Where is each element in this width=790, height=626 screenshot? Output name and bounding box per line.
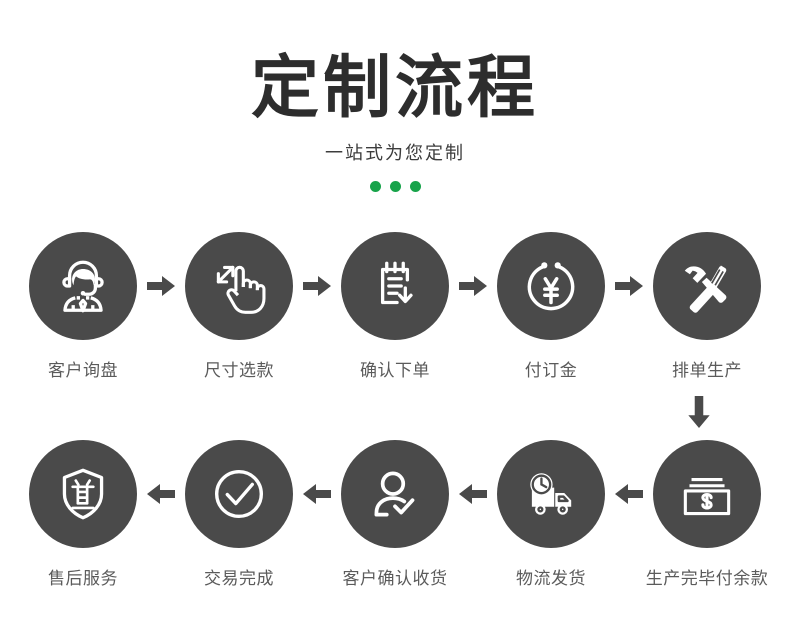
step-label: 物流发货 (516, 564, 586, 589)
process-step-confirm-order[interactable]: 确认下单 (340, 232, 450, 381)
circle-check-icon (205, 460, 273, 528)
flow-arrow-left (138, 440, 184, 548)
page-title: 定制流程 (0, 52, 790, 125)
process-step-pay-balance[interactable]: 生产完毕付余款 (652, 440, 762, 589)
process-step-customer-inquiry[interactable]: 客户询盘 (28, 232, 138, 381)
step-icon-bubble (185, 232, 293, 340)
headset-agent-icon (50, 253, 116, 319)
truck-clock-icon (517, 460, 585, 528)
process-step-size-selection[interactable]: 尺寸选款 (184, 232, 294, 381)
arrow-right-icon (147, 274, 175, 298)
process-row-2: 售后服务 交易完成 (0, 440, 790, 589)
step-label: 客户确认收货 (343, 564, 448, 589)
dot-icon (370, 181, 381, 192)
flow-arrow-left (450, 440, 496, 548)
step-label: 生产完毕付余款 (646, 564, 769, 589)
flow-arrow-down-connector (682, 396, 716, 428)
arrow-right-icon (615, 274, 643, 298)
process-step-pay-deposit[interactable]: 付订金 (496, 232, 606, 381)
flow-arrow-right (450, 232, 496, 340)
page-subtitle: 一站式为您定制 (0, 139, 790, 165)
arrow-right-icon (303, 274, 331, 298)
page-header: 定制流程 一站式为您定制 (0, 0, 790, 192)
yuan-coin-icon (518, 253, 584, 319)
flow-arrow-left (294, 440, 340, 548)
hammer-screwdriver-icon (673, 252, 741, 320)
person-check-icon (362, 461, 428, 527)
step-icon-bubble (653, 440, 761, 548)
flow-arrow-right (606, 232, 652, 340)
process-row-1: 客户询盘 (0, 232, 790, 381)
process-step-production-scheduling[interactable]: 排单生产 (652, 232, 762, 381)
step-icon-bubble (497, 440, 605, 548)
step-label: 尺寸选款 (204, 356, 274, 381)
step-label: 售后服务 (48, 564, 118, 589)
arrow-right-icon (459, 274, 487, 298)
order-form-download-icon (362, 253, 428, 319)
process-step-customer-confirm-receipt[interactable]: 客户确认收货 (340, 440, 450, 589)
resize-hand-icon (206, 253, 272, 319)
arrow-down-icon (682, 396, 716, 428)
step-icon-bubble (185, 440, 293, 548)
step-label: 付订金 (525, 356, 578, 381)
flow-arrow-left (606, 440, 652, 548)
flow-arrow-right (294, 232, 340, 340)
decorative-dots (0, 181, 790, 192)
shield-after-sales-icon (50, 461, 116, 527)
step-icon-bubble (29, 440, 137, 548)
step-label: 交易完成 (204, 564, 274, 589)
dot-icon (410, 181, 421, 192)
step-icon-bubble (29, 232, 137, 340)
step-label: 排单生产 (672, 356, 742, 381)
step-icon-bubble (497, 232, 605, 340)
step-label: 确认下单 (360, 356, 430, 381)
process-step-logistics-shipping[interactable]: 物流发货 (496, 440, 606, 589)
arrow-left-icon (615, 482, 643, 506)
step-icon-bubble (341, 440, 449, 548)
step-label: 客户询盘 (48, 356, 118, 381)
step-icon-bubble (341, 232, 449, 340)
step-icon-bubble (653, 232, 761, 340)
arrow-left-icon (147, 482, 175, 506)
dot-icon (390, 181, 401, 192)
process-step-after-sales-service[interactable]: 售后服务 (28, 440, 138, 589)
cash-dollar-icon (674, 461, 740, 527)
arrow-left-icon (303, 482, 331, 506)
arrow-left-icon (459, 482, 487, 506)
flow-arrow-right (138, 232, 184, 340)
process-step-transaction-complete[interactable]: 交易完成 (184, 440, 294, 589)
